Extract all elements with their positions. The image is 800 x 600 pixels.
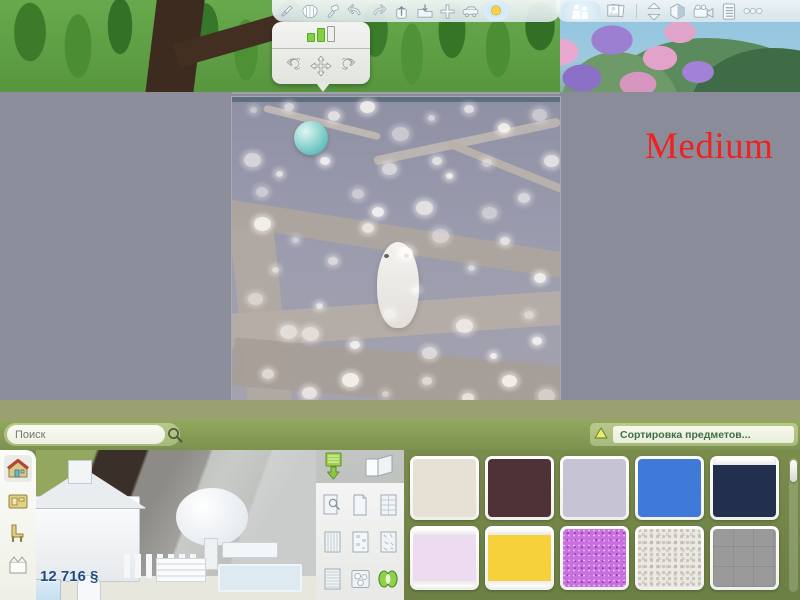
- subcat-plain-icon[interactable]: [347, 487, 373, 522]
- painting-blossom: [532, 109, 547, 121]
- room-wall-left[interactable]: [0, 92, 232, 400]
- painting-blossom: [490, 353, 497, 359]
- more-options-icon[interactable]: [742, 2, 763, 20]
- swatch-orchid-speckle[interactable]: [560, 526, 629, 590]
- painting-blossom: [352, 189, 364, 199]
- painting-blossom: [456, 319, 473, 333]
- wallpaper-swatch-grid: [410, 456, 790, 592]
- painting-blossom: [292, 237, 299, 243]
- swatch-preview: [413, 459, 476, 517]
- subcat-siding-icon[interactable]: [319, 561, 345, 596]
- swatch-sunflower-yellow[interactable]: [485, 526, 554, 590]
- build-tools-toolbar: [272, 0, 560, 22]
- painting-blossom: [392, 127, 409, 141]
- illustration-pool: [218, 564, 302, 592]
- subcategory-grid: [316, 483, 404, 600]
- painting-blossom: [328, 111, 340, 121]
- swatch-preview: [638, 529, 701, 587]
- painting-blossom: [422, 347, 437, 359]
- eyedropper-icon[interactable]: [276, 2, 297, 20]
- painting-blossom: [382, 391, 389, 397]
- swatch-preview: [488, 459, 551, 517]
- sidebar-item-surfaces[interactable]: [4, 487, 32, 514]
- weather-icon[interactable]: [483, 1, 509, 21]
- painting-blossom: [502, 375, 517, 387]
- rotate-right-button[interactable]: [342, 58, 359, 75]
- mode-toolbar: [556, 0, 800, 22]
- painting-blossom: [320, 157, 330, 165]
- painting-blossom: [372, 207, 384, 217]
- painting-blossom: [382, 163, 397, 175]
- toolbar-divider: [636, 4, 637, 18]
- painting-blossom: [500, 237, 510, 245]
- live-mode-icon[interactable]: [561, 1, 601, 21]
- download-icon[interactable]: [414, 2, 435, 20]
- swatch-preview: [413, 529, 476, 587]
- search-field-wrapper: [4, 423, 180, 446]
- painting-blossom: [468, 265, 475, 271]
- subcat-paint-icon[interactable]: [319, 487, 345, 522]
- sidebar-item-chairs[interactable]: [4, 519, 32, 546]
- painting-blossom: [534, 273, 546, 283]
- search-icon[interactable]: [167, 423, 183, 446]
- rotate-left-button[interactable]: [283, 58, 300, 75]
- swatch-trim-bottom: [488, 581, 551, 587]
- subcat-stone-icon[interactable]: [347, 561, 373, 596]
- subcategory-header: [316, 450, 404, 482]
- painting-blossom: [328, 257, 338, 265]
- painting-blossom: [284, 103, 294, 111]
- sort-items-button[interactable]: Сортировка предметов...: [590, 423, 798, 446]
- painting-blossom: [302, 387, 317, 399]
- swatch-trim-bottom: [413, 581, 476, 587]
- floor-up-down-icon[interactable]: [643, 2, 664, 20]
- swatch-scrollbar[interactable]: [789, 458, 798, 592]
- search-input[interactable]: [7, 425, 165, 444]
- painting-ornament: [294, 121, 328, 155]
- subcat-tile-icon[interactable]: [375, 487, 401, 522]
- painting-blossom: [244, 153, 261, 167]
- painting-blossom: [250, 107, 257, 113]
- terrain-tool-icon[interactable]: [460, 2, 481, 20]
- swatch-white-stucco[interactable]: [635, 526, 704, 590]
- subcategory-panel: [316, 450, 404, 600]
- subcat-patterned-icon[interactable]: [347, 524, 373, 559]
- painting-blossom: [398, 247, 413, 259]
- painting-blossom: [428, 115, 435, 121]
- painting-blossom: [532, 337, 542, 345]
- hammer-icon[interactable]: [322, 2, 343, 20]
- painting-blossom: [360, 101, 375, 113]
- popup-pointer: [316, 83, 330, 92]
- size-annotation-label: Medium: [645, 125, 773, 168]
- sort-items-label: Сортировка предметов...: [613, 426, 794, 443]
- undo-icon[interactable]: [345, 2, 366, 20]
- subcat-paneling-icon[interactable]: [319, 524, 345, 559]
- painting-top-edge: [232, 97, 560, 102]
- sidebar-item-misc[interactable]: [4, 551, 32, 578]
- painting-blossom: [482, 207, 497, 219]
- camera-icon[interactable]: [691, 2, 715, 20]
- painting-blossom: [350, 341, 360, 349]
- swatch-scrollbar-thumb[interactable]: [790, 460, 797, 482]
- object-actions: [272, 49, 370, 84]
- paint-swatch-icon[interactable]: [299, 2, 320, 20]
- painting-blossom: [276, 171, 283, 177]
- swatch-trim-top: [413, 529, 476, 535]
- room-floor: [0, 400, 800, 420]
- painting-blossom: [524, 311, 534, 319]
- illustration-table: [222, 542, 278, 558]
- illustration-stairs: [156, 558, 206, 582]
- swatch-trim-top: [713, 459, 776, 465]
- swatch-lilac-grey[interactable]: [560, 456, 629, 520]
- painting-branch: [446, 139, 560, 203]
- swatch-preview: [713, 529, 776, 587]
- swatch-dark-plum[interactable]: [485, 456, 554, 520]
- swatch-grey-tile[interactable]: [710, 526, 779, 590]
- swatch-cream-linen[interactable]: [410, 456, 479, 520]
- painting-blossom: [272, 267, 279, 273]
- game-world-viewport[interactable]: [0, 0, 800, 420]
- swatch-preview: [488, 529, 551, 587]
- painting-blossom: [544, 155, 559, 167]
- painting-blossom: [412, 287, 419, 293]
- swatch-royal-blue[interactable]: [635, 456, 704, 520]
- object-manipulation-popup: [272, 22, 370, 84]
- illustration-chimney: [68, 460, 92, 484]
- sort-triangle-icon: [594, 426, 608, 444]
- catalog-topbar: Сортировка предметов...: [0, 420, 800, 450]
- painting-blossom: [432, 157, 442, 165]
- painting-blossom: [464, 105, 474, 113]
- painting-blossom: [248, 293, 263, 305]
- sims-build-mode-screen: Medium: [0, 0, 800, 600]
- painting-blossom: [538, 389, 555, 400]
- household-funds: 12 716 §: [40, 568, 98, 585]
- gallery-icon[interactable]: [604, 2, 630, 20]
- size-bars: [307, 28, 335, 42]
- sidebar-item-build[interactable]: [4, 455, 32, 482]
- build-catalog-panel: Сортировка предметов...: [0, 420, 800, 600]
- wallpaper-swatch-area: [404, 450, 800, 600]
- painting-blossom: [462, 393, 474, 400]
- painting-snowy-owl-blossom[interactable]: [232, 97, 560, 400]
- swatch-trim-top: [488, 529, 551, 535]
- swatch-preview: [563, 459, 626, 517]
- catalog-category-sidebar: [0, 450, 36, 600]
- object-size-indicator[interactable]: [272, 22, 370, 49]
- subcat-masonry-icon[interactable]: [375, 524, 401, 559]
- wallpaper-download-icon[interactable]: [322, 452, 345, 487]
- upload-icon[interactable]: [391, 2, 412, 20]
- notifications-icon[interactable]: [718, 2, 739, 20]
- swatch-navy[interactable]: [710, 456, 779, 520]
- painting-blossom: [518, 193, 530, 203]
- painting-blossom: [256, 187, 268, 197]
- book-icon[interactable]: [364, 453, 394, 484]
- subcat-custom-icon[interactable]: [375, 561, 401, 596]
- painting-blossom: [316, 303, 323, 309]
- painting-blossom: [482, 159, 492, 167]
- walls-cutaway-icon[interactable]: [667, 2, 688, 20]
- add-icon[interactable]: [437, 2, 458, 20]
- swatch-pale-pink[interactable]: [410, 526, 479, 590]
- painting-blossom: [416, 201, 433, 215]
- illustration-tree-trunk: [204, 538, 218, 570]
- swatch-preview: [563, 529, 626, 587]
- swatch-preview: [638, 459, 701, 517]
- swatch-preview: [713, 459, 776, 517]
- move-handle[interactable]: [310, 56, 332, 78]
- painting-blossom: [446, 173, 453, 179]
- painting-blossom: [422, 377, 432, 385]
- painting-branch: [373, 117, 560, 165]
- redo-icon[interactable]: [368, 2, 389, 20]
